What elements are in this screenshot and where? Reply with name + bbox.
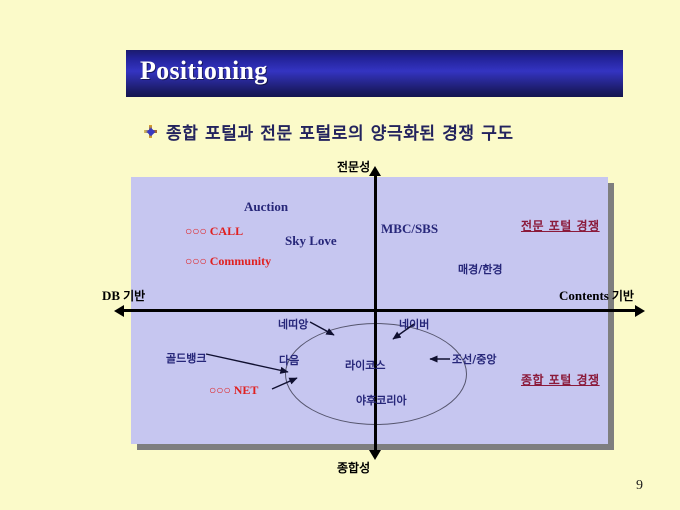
horizontal-axis-line: [123, 309, 637, 312]
data-point-label: ○○○ NET: [209, 383, 258, 398]
axis-label-right-contents: Contents: [559, 288, 609, 304]
subtitle-row: 종합 포털과 전문 포털로의 양극화된 경쟁 구도: [144, 119, 514, 144]
data-point-label: 라이코스: [345, 357, 385, 373]
data-point-label: Sky Love: [285, 233, 337, 249]
data-point-label: 매경/한경: [458, 261, 503, 277]
data-point-label: 네띠앙: [278, 316, 308, 332]
axis-label-top: 전문성: [337, 158, 370, 175]
data-point-label: 네이버: [399, 316, 429, 332]
vertical-axis-line: [374, 173, 377, 453]
vertical-axis-down-arrow-icon: [369, 450, 381, 460]
axis-label-right-kr: 기반: [612, 287, 634, 304]
annotation-specialist-portal-competition: 전문 포털 경쟁: [521, 217, 600, 234]
horizontal-axis-left-arrow-icon: [114, 305, 124, 317]
data-point-label: MBC/SBS: [381, 221, 438, 237]
slide-title-bar: Positioning: [126, 50, 623, 97]
horizontal-axis-right-arrow-icon: [635, 305, 645, 317]
data-point-label: ○○○ CALL: [185, 224, 243, 239]
data-point-label: 야후코리아: [356, 392, 407, 408]
diamond-plus-bullet-icon: [144, 125, 157, 138]
axis-label-bottom: 종합성: [337, 459, 370, 476]
vertical-axis-up-arrow-icon: [369, 166, 381, 176]
subtitle-text: 종합 포털과 전문 포털로의 양극화된 경쟁 구도: [166, 119, 514, 144]
data-point-label: 조선/중앙: [452, 351, 497, 367]
axis-label-left-db: DB: [102, 288, 120, 304]
slide-canvas: Positioning 종합 포털과 전문 포털로의 양극화된 경쟁 구도 전문…: [0, 0, 680, 510]
data-point-label: ○○○ Community: [185, 254, 271, 269]
page-number: 9: [636, 478, 643, 494]
annotation-general-portal-competition: 종합 포털 경쟁: [521, 371, 600, 388]
data-point-label: 골드뱅크: [166, 350, 206, 366]
data-point-label: Auction: [244, 199, 288, 215]
page-title: Positioning: [140, 56, 268, 86]
data-point-label: 다음: [279, 352, 299, 368]
axis-label-left-kr: 기반: [123, 287, 145, 304]
axis-label-left: DB 기반: [102, 287, 145, 304]
axis-label-right: Contents 기반: [559, 287, 634, 304]
